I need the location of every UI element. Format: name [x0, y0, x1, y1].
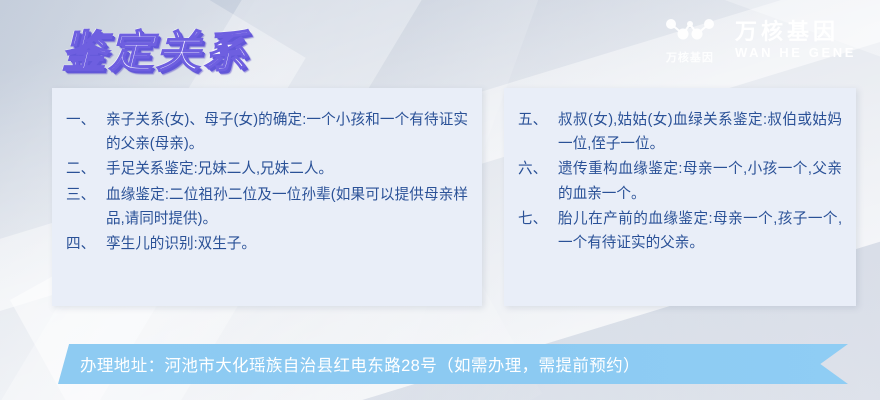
list-item-number: 七、	[518, 207, 558, 231]
list-item: 六、 遗传重构血缘鉴定:母亲一个,小孩一个,父亲的血亲一个。	[518, 157, 842, 205]
list-item-text: 亲子关系(女)、母子(女)的确定:一个小孩和一个有待证实的父亲(母亲)。	[106, 108, 468, 156]
list-item-number: 一、	[66, 108, 106, 132]
brand-name-cn: 万核基因	[735, 20, 856, 44]
panel-right: 五、 叔叔(女),姑姑(女)血绿关系鉴定:叔伯或姑妈一位,侄子一位。 六、 遗传…	[504, 88, 856, 306]
address-ribbon: 办理地址：河池市大化瑶族自治县红电东路28号（如需办理，需提前预约）	[58, 344, 848, 384]
list-item-text: 遗传重构血缘鉴定:母亲一个,小孩一个,父亲的血亲一个。	[558, 157, 842, 205]
brand-logo: 万核基因	[661, 16, 719, 65]
list-item-number: 三、	[66, 183, 106, 207]
list-item-text: 孪生儿的识别:双生子。	[106, 232, 468, 256]
molecule-icon	[661, 16, 719, 46]
list-item: 五、 叔叔(女),姑姑(女)血绿关系鉴定:叔伯或姑妈一位,侄子一位。	[518, 108, 842, 156]
panel-left: 一、 亲子关系(女)、母子(女)的确定:一个小孩和一个有待证实的父亲(母亲)。 …	[52, 88, 482, 306]
list-item-text: 叔叔(女),姑姑(女)血绿关系鉴定:叔伯或姑妈一位,侄子一位。	[558, 108, 842, 156]
list-item-text: 手足关系鉴定:兄妹二人,兄妹二人。	[106, 157, 468, 181]
page-title: 鉴定关系	[62, 16, 250, 80]
address-text: 办理地址：河池市大化瑶族自治县红电东路28号（如需办理，需提前预约）	[58, 352, 640, 376]
relationship-list-left: 一、 亲子关系(女)、母子(女)的确定:一个小孩和一个有待证实的父亲(母亲)。 …	[66, 108, 468, 256]
list-item-text: 血缘鉴定:二位祖孙二位及一位孙辈(如果可以提供母亲样品,请同时提供)。	[106, 183, 468, 231]
list-item: 四、 孪生儿的识别:双生子。	[66, 232, 468, 256]
list-item-number: 四、	[66, 232, 106, 256]
list-item-text: 胎儿在产前的血缘鉴定:母亲一个,孩子一个,一个有待证实的父亲。	[558, 207, 842, 255]
brand-name-en: WAN HE GENE	[735, 46, 856, 60]
brand-logo-caption: 万核基因	[666, 49, 714, 65]
list-item-number: 二、	[66, 157, 106, 181]
brand-wordmark: 万核基因 WAN HE GENE	[735, 20, 856, 60]
poster-root: 鉴定关系	[0, 0, 880, 400]
header: 鉴定关系	[0, 0, 880, 88]
list-item-number: 六、	[518, 157, 558, 181]
list-item: 七、 胎儿在产前的血缘鉴定:母亲一个,孩子一个,一个有待证实的父亲。	[518, 207, 842, 255]
content-panels: 一、 亲子关系(女)、母子(女)的确定:一个小孩和一个有待证实的父亲(母亲)。 …	[52, 88, 856, 306]
brand-lockup: 万核基因 万核基因 WAN HE GENE	[661, 16, 856, 65]
list-item: 三、 血缘鉴定:二位祖孙二位及一位孙辈(如果可以提供母亲样品,请同时提供)。	[66, 183, 468, 231]
list-item: 一、 亲子关系(女)、母子(女)的确定:一个小孩和一个有待证实的父亲(母亲)。	[66, 108, 468, 156]
relationship-list-right: 五、 叔叔(女),姑姑(女)血绿关系鉴定:叔伯或姑妈一位,侄子一位。 六、 遗传…	[518, 108, 842, 255]
list-item-number: 五、	[518, 108, 558, 132]
list-item: 二、 手足关系鉴定:兄妹二人,兄妹二人。	[66, 157, 468, 181]
